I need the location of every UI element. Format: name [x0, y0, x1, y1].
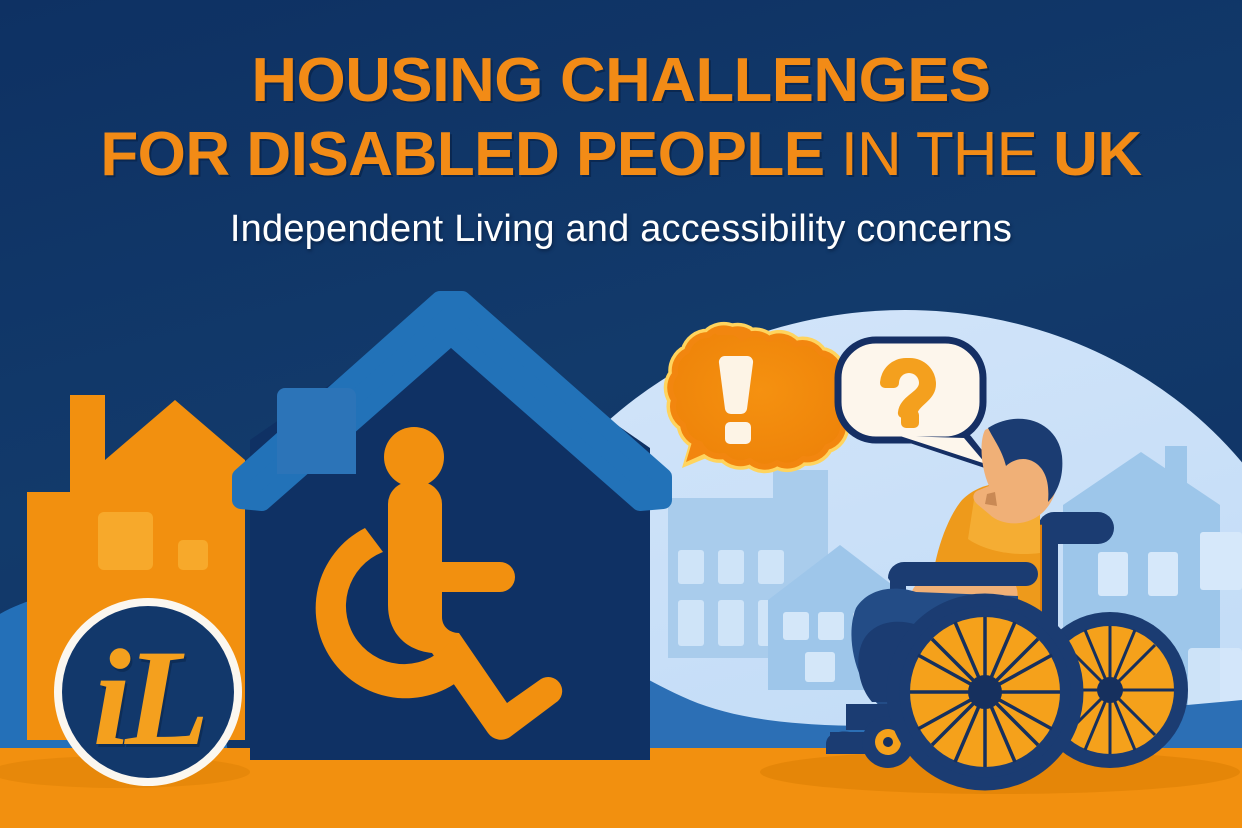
- wheelchair-wheel-near: [893, 600, 1077, 784]
- alert-speech-bubble: [670, 328, 849, 468]
- logo-badge: [54, 598, 242, 786]
- illustration-artboard: [0, 0, 1242, 828]
- poster-canvas: iL HOUSING CHALLENGES FOR DISABLED PEOPL…: [0, 0, 1242, 828]
